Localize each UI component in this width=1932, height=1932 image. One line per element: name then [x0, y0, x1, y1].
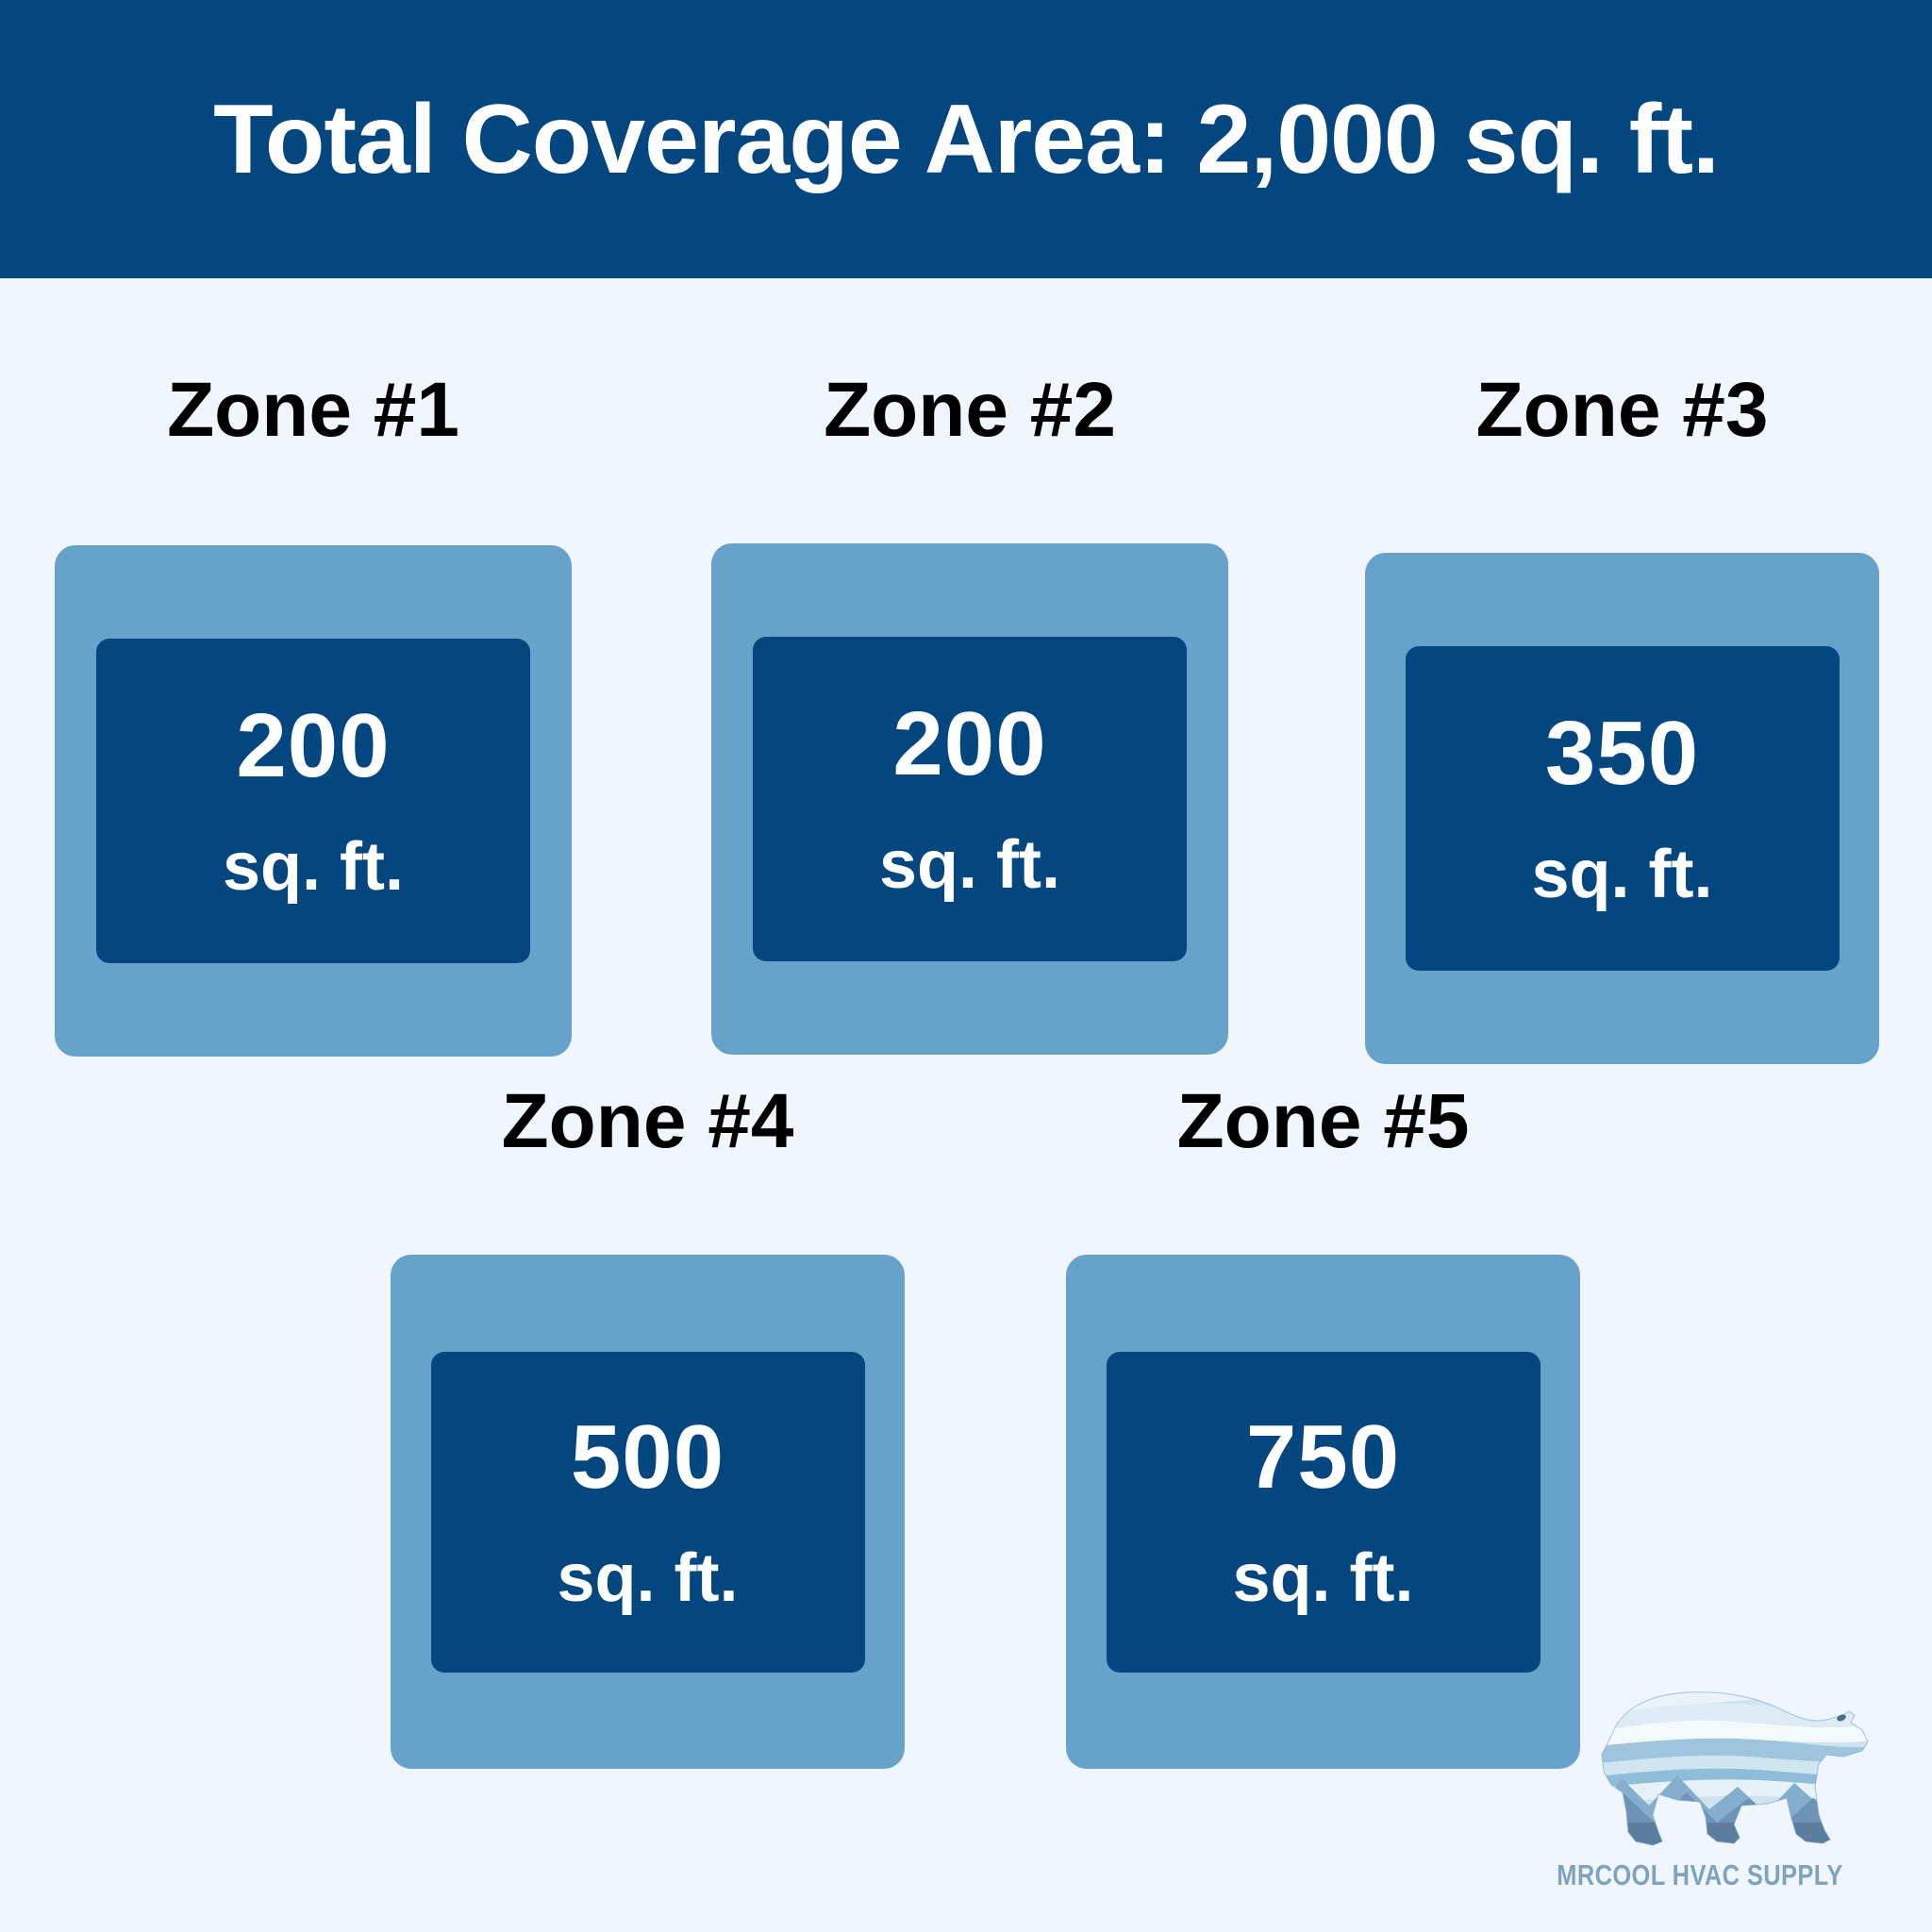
zone-inner-tile-1: 200 sq. ft.: [96, 639, 530, 963]
zone-label-1: Zone #1: [55, 372, 572, 449]
zone-label-4: Zone #4: [391, 1083, 905, 1160]
zone-outer-tile-4: 500 sq. ft.: [391, 1255, 905, 1769]
zone-unit-2: sq. ft.: [879, 831, 1060, 899]
zone-inner-tile-3: 350 sq. ft.: [1406, 646, 1840, 971]
zone-unit-3: sq. ft.: [1532, 841, 1713, 908]
brand-logo-text: MRCOOL HVAC SUPPLY: [1545, 1860, 1855, 1890]
zone-label-5: Zone #5: [1066, 1083, 1580, 1160]
zone-value-5: 750: [1246, 1412, 1400, 1503]
zone-unit-5: sq. ft.: [1233, 1544, 1414, 1612]
zone-value-2: 200: [892, 699, 1046, 790]
zone-value-3: 350: [1545, 708, 1699, 799]
zone-outer-tile-2: 200 sq. ft.: [711, 543, 1228, 1055]
page-title: Total Coverage Area: 2,000 sq. ft.: [213, 91, 1719, 189]
zone-inner-tile-5: 750 sq. ft.: [1107, 1352, 1541, 1673]
zone-unit-1: sq. ft.: [223, 833, 404, 901]
zone-outer-tile-5: 750 sq. ft.: [1066, 1255, 1580, 1769]
polar-bear-icon: [1511, 1674, 1889, 1862]
zone-outer-tile-1: 200 sq. ft.: [55, 545, 572, 1057]
header-banner: Total Coverage Area: 2,000 sq. ft.: [0, 0, 1932, 278]
zone-outer-tile-3: 350 sq. ft.: [1365, 553, 1879, 1064]
zone-label-3: Zone #3: [1365, 372, 1879, 449]
zone-unit-4: sq. ft.: [558, 1544, 739, 1612]
brand-logo: MRCOOL HVAC SUPPLY: [1511, 1674, 1889, 1909]
zone-label-2: Zone #2: [711, 372, 1228, 449]
zone-value-4: 500: [571, 1412, 724, 1503]
zone-inner-tile-4: 500 sq. ft.: [431, 1352, 865, 1673]
zone-value-1: 200: [236, 701, 390, 791]
zone-inner-tile-2: 200 sq. ft.: [753, 637, 1187, 961]
